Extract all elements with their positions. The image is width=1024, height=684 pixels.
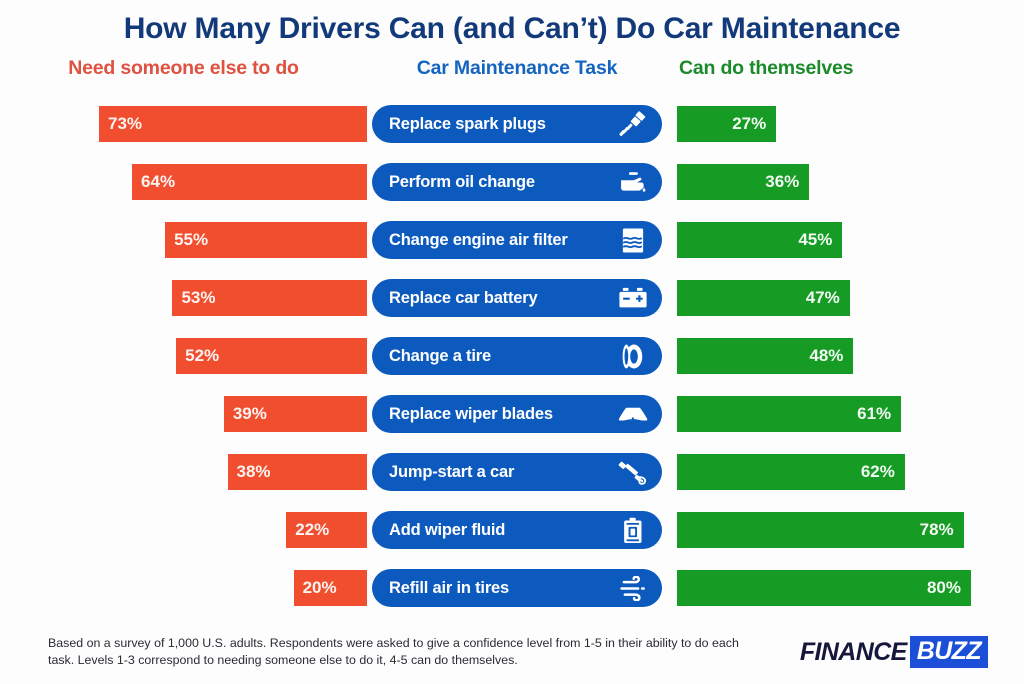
need-someone-else-value: 20% — [303, 578, 337, 598]
logo-finance-text: FINANCE — [800, 638, 907, 667]
chart-row: 53%Replace car battery47% — [0, 269, 1024, 327]
can-do-themselves-cell: 45% — [667, 222, 1024, 258]
fluid-jug-icon — [618, 517, 648, 543]
need-someone-else-value: 73% — [108, 114, 142, 134]
can-do-themselves-bar: 45% — [677, 222, 842, 258]
chart-rows: 73%Replace spark plugs27%64%Perform oil … — [0, 95, 1024, 617]
task-cell: Change a tire — [367, 337, 667, 375]
need-someone-else-bar: 73% — [99, 106, 367, 142]
need-someone-else-cell: 64% — [0, 164, 367, 200]
task-cell: Add wiper fluid — [367, 511, 667, 549]
need-someone-else-bar: 64% — [132, 164, 367, 200]
can-do-themselves-bar: 78% — [677, 512, 964, 548]
need-someone-else-bar: 38% — [228, 454, 368, 490]
can-do-themselves-bar: 27% — [677, 106, 776, 142]
need-someone-else-bar: 22% — [286, 512, 367, 548]
jumper-cables-icon — [618, 459, 648, 485]
task-pill[interactable]: Change a tire — [372, 337, 662, 375]
page-title: How Many Drivers Can (and Can’t) Do Car … — [0, 0, 1024, 48]
need-someone-else-cell: 20% — [0, 570, 367, 606]
chart-row: 22%Add wiper fluid78% — [0, 501, 1024, 559]
spark-plug-icon — [618, 111, 648, 137]
can-do-themselves-cell: 27% — [667, 106, 1024, 142]
chart-row: 20%Refill air in tires80% — [0, 559, 1024, 617]
need-someone-else-value: 53% — [181, 288, 215, 308]
need-someone-else-bar: 53% — [172, 280, 367, 316]
air-pump-icon — [618, 575, 648, 601]
need-someone-else-value: 38% — [237, 462, 271, 482]
chart-row: 64%Perform oil change36% — [0, 153, 1024, 211]
task-label: Change a tire — [389, 347, 491, 366]
need-someone-else-cell: 22% — [0, 512, 367, 548]
can-do-themselves-cell: 61% — [667, 396, 1024, 432]
can-do-themselves-cell: 48% — [667, 338, 1024, 374]
task-pill[interactable]: Add wiper fluid — [372, 511, 662, 549]
can-do-themselves-cell: 47% — [667, 280, 1024, 316]
need-someone-else-cell: 73% — [0, 106, 367, 142]
task-label: Replace wiper blades — [389, 405, 553, 424]
car-battery-icon — [618, 285, 648, 311]
task-pill[interactable]: Replace car battery — [372, 279, 662, 317]
task-pill[interactable]: Replace spark plugs — [372, 105, 662, 143]
can-do-themselves-value: 36% — [765, 172, 799, 192]
need-someone-else-bar: 39% — [224, 396, 367, 432]
task-pill[interactable]: Replace wiper blades — [372, 395, 662, 433]
can-do-themselves-cell: 78% — [667, 512, 1024, 548]
infographic-root: How Many Drivers Can (and Can’t) Do Car … — [0, 0, 1024, 684]
task-pill[interactable]: Jump-start a car — [372, 453, 662, 491]
task-label: Replace spark plugs — [389, 115, 546, 134]
can-do-themselves-value: 45% — [798, 230, 832, 250]
task-label: Replace car battery — [389, 289, 537, 308]
need-someone-else-value: 52% — [185, 346, 219, 366]
header-car-maintenance-task: Car Maintenance Task — [367, 57, 667, 80]
task-cell: Change engine air filter — [367, 221, 667, 259]
need-someone-else-cell: 53% — [0, 280, 367, 316]
need-someone-else-cell: 52% — [0, 338, 367, 374]
financebuzz-logo: FINANCE BUZZ — [800, 636, 988, 668]
task-pill[interactable]: Change engine air filter — [372, 221, 662, 259]
chart-row: 38%Jump-start a car62% — [0, 443, 1024, 501]
can-do-themselves-bar: 47% — [677, 280, 850, 316]
can-do-themselves-bar: 36% — [677, 164, 809, 200]
chart-row: 55%Change engine air filter45% — [0, 211, 1024, 269]
need-someone-else-bar: 52% — [176, 338, 367, 374]
header-can-do-themselves: Can do themselves — [667, 57, 1017, 80]
task-label: Jump-start a car — [389, 463, 514, 482]
need-someone-else-value: 55% — [174, 230, 208, 250]
can-do-themselves-cell: 80% — [667, 570, 1024, 606]
need-someone-else-bar: 55% — [165, 222, 367, 258]
can-do-themselves-cell: 36% — [667, 164, 1024, 200]
task-label: Change engine air filter — [389, 231, 568, 250]
need-someone-else-cell: 39% — [0, 396, 367, 432]
need-someone-else-value: 22% — [295, 520, 329, 540]
task-label: Add wiper fluid — [389, 521, 505, 540]
need-someone-else-cell: 55% — [0, 222, 367, 258]
task-cell: Replace spark plugs — [367, 105, 667, 143]
can-do-themselves-cell: 62% — [667, 454, 1024, 490]
task-label: Perform oil change — [389, 173, 535, 192]
need-someone-else-bar: 20% — [294, 570, 367, 606]
need-someone-else-value: 64% — [141, 172, 175, 192]
task-cell: Jump-start a car — [367, 453, 667, 491]
can-do-themselves-bar: 61% — [677, 396, 901, 432]
chart-row: 52%Change a tire48% — [0, 327, 1024, 385]
need-someone-else-cell: 38% — [0, 454, 367, 490]
chart-row: 39%Replace wiper blades61% — [0, 385, 1024, 443]
can-do-themselves-value: 80% — [927, 578, 961, 598]
need-someone-else-value: 39% — [233, 404, 267, 424]
logo-buzz-text: BUZZ — [910, 636, 988, 668]
chart-row: 73%Replace spark plugs27% — [0, 95, 1024, 153]
column-headers: Need someone else to do Car Maintenance … — [0, 57, 1024, 87]
task-cell: Replace wiper blades — [367, 395, 667, 433]
tire-icon — [618, 343, 648, 369]
can-do-themselves-value: 48% — [809, 346, 843, 366]
air-filter-icon — [618, 227, 648, 253]
can-do-themselves-bar: 80% — [677, 570, 971, 606]
task-pill[interactable]: Perform oil change — [372, 163, 662, 201]
wiper-blade-icon — [618, 401, 648, 427]
task-cell: Perform oil change — [367, 163, 667, 201]
task-cell: Replace car battery — [367, 279, 667, 317]
task-cell: Refill air in tires — [367, 569, 667, 607]
footer: Based on a survey of 1,000 U.S. adults. … — [0, 628, 1024, 684]
can-do-themselves-value: 47% — [806, 288, 840, 308]
oil-can-icon — [618, 169, 648, 195]
header-need-someone-else: Need someone else to do — [0, 57, 367, 80]
can-do-themselves-bar: 48% — [677, 338, 853, 374]
footnote-text: Based on a survey of 1,000 U.S. adults. … — [48, 635, 748, 669]
can-do-themselves-value: 61% — [857, 404, 891, 424]
can-do-themselves-value: 27% — [732, 114, 766, 134]
task-label: Refill air in tires — [389, 579, 509, 598]
can-do-themselves-value: 78% — [920, 520, 954, 540]
can-do-themselves-bar: 62% — [677, 454, 905, 490]
can-do-themselves-value: 62% — [861, 462, 895, 482]
task-pill[interactable]: Refill air in tires — [372, 569, 662, 607]
